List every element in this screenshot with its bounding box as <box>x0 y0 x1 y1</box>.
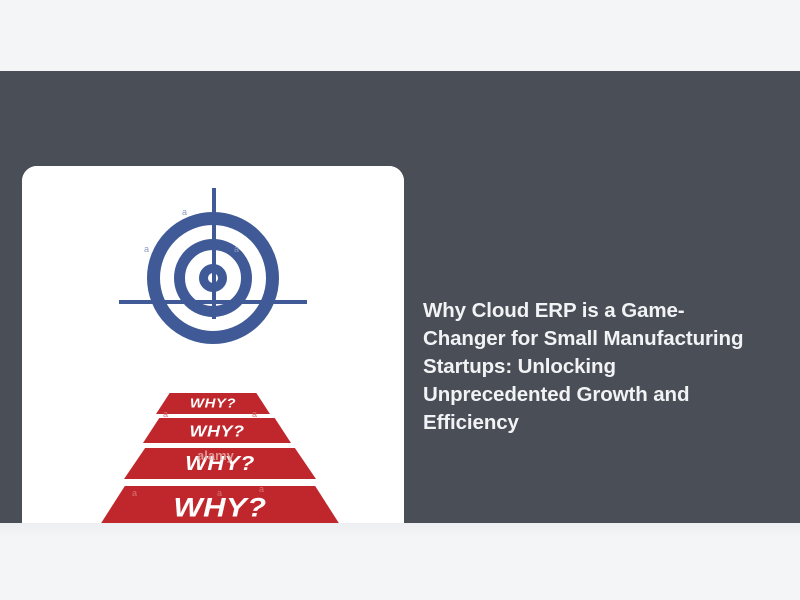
why-band: WHY? <box>143 418 291 443</box>
bottom-spacer-band <box>0 523 800 600</box>
article-image-card[interactable]: a a a WHY? WHY? WHY? WHY? <box>22 166 404 575</box>
top-spacer-band <box>0 0 800 71</box>
why-band-label: WHY? <box>190 397 236 410</box>
why-band-label: WHY? <box>173 493 266 520</box>
stock-photo: a a a WHY? WHY? WHY? WHY? <box>22 166 404 575</box>
why-band: WHY? <box>98 486 342 528</box>
page-root: a a a WHY? WHY? WHY? WHY? <box>0 0 800 600</box>
hero-section: a a a WHY? WHY? WHY? WHY? <box>0 71 800 523</box>
why-band: WHY? <box>124 448 316 479</box>
article-title: Why Cloud ERP is a Game-Changer for Smal… <box>423 297 753 437</box>
why-band-label: WHY? <box>190 423 245 439</box>
why-band: WHY? <box>156 393 270 414</box>
why-pyramid: WHY? WHY? WHY? WHY? WHY? <box>22 166 404 551</box>
why-band-label: WHY? <box>185 453 255 473</box>
